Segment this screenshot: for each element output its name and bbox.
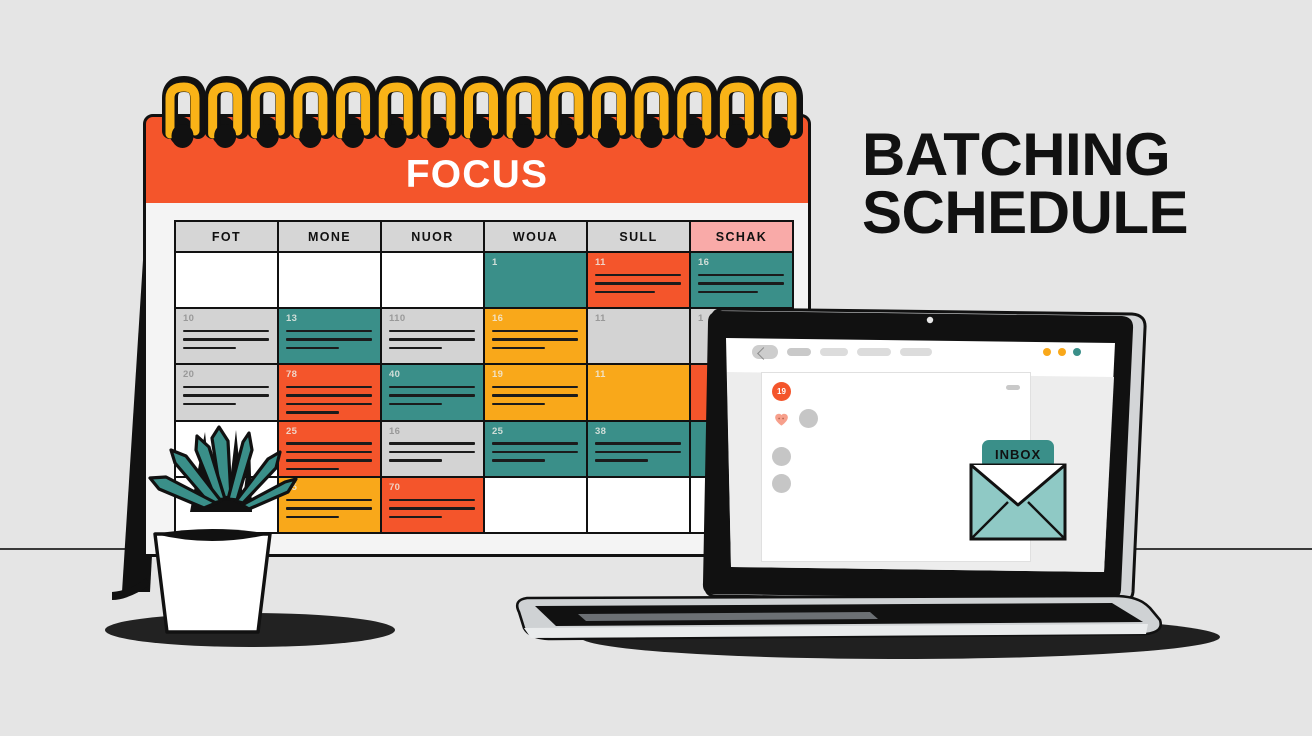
- heart-icon: [772, 409, 791, 428]
- title-line-2: SCHEDULE: [862, 184, 1292, 242]
- mail-row[interactable]: [772, 436, 1020, 439]
- toolbar-pill-2[interactable]: [820, 348, 848, 356]
- toolbar-pill-4[interactable]: [900, 348, 932, 356]
- mail-row-lines: [772, 436, 1020, 439]
- mail-row[interactable]: [772, 409, 1020, 428]
- window-dot-1[interactable]: [1043, 348, 1051, 356]
- mail-line-short: [1006, 385, 1020, 390]
- toolbar-pill-1[interactable]: [787, 348, 811, 356]
- laptop-screen-region: 19: [500, 300, 1200, 660]
- avatar: [772, 474, 791, 493]
- back-arrow-icon[interactable]: [752, 345, 778, 359]
- window-dot-2[interactable]: [1058, 348, 1066, 356]
- title-line-1: BATCHING: [862, 126, 1292, 184]
- mail-row-lines: [799, 382, 998, 385]
- unread-count-badge: 19: [772, 382, 791, 401]
- page-title: BATCHING SCHEDULE: [862, 126, 1292, 242]
- mail-row[interactable]: 19: [772, 382, 1020, 401]
- toolbar-pill-3[interactable]: [857, 348, 891, 356]
- mail-row-lines: [826, 409, 1020, 412]
- illustration-scene: FOCUS FOTMONENUORWOUASULLSCHAK 111161013…: [0, 0, 1312, 736]
- envelope-icon: [968, 461, 1068, 543]
- browser-window[interactable]: 19: [742, 336, 1090, 569]
- window-dots: [1043, 348, 1090, 356]
- avatar: [772, 447, 791, 466]
- avatar: [799, 409, 818, 428]
- window-dot-3[interactable]: [1073, 348, 1081, 356]
- browser-toolbar[interactable]: [742, 336, 1090, 367]
